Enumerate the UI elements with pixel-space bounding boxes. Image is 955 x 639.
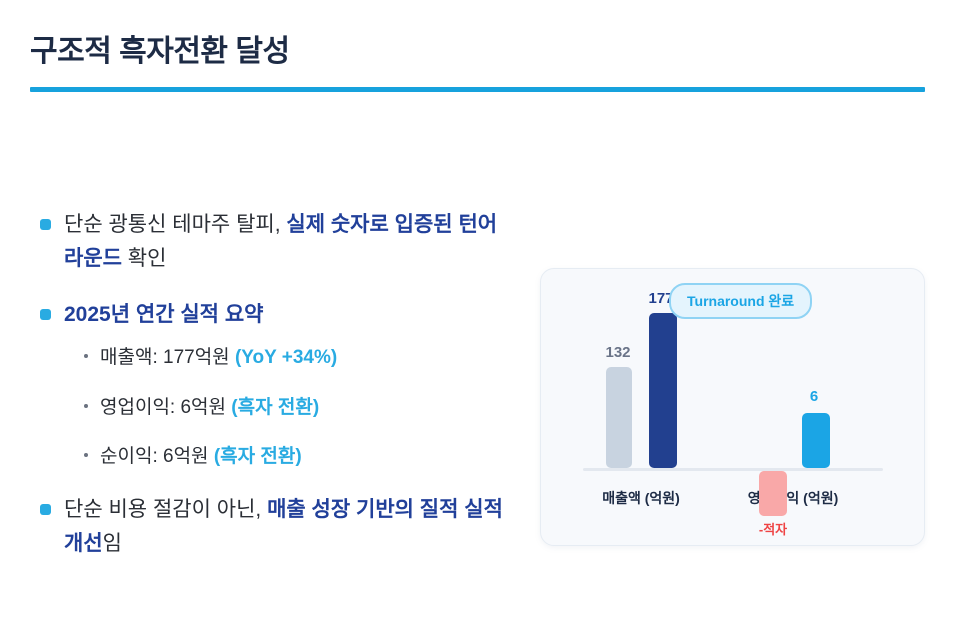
bar-profit-curr [802,413,830,468]
performance-chart-card: 132 177 -적자 6 매출액 (억원) 영업이익 (억원) Turnaro… [540,268,925,546]
bar-value-profit-prev: -적자 [744,519,802,538]
bar-revenue-prev [606,367,632,468]
axis-label-revenue: 매출액 (억원) [581,488,701,508]
chart-baseline [583,468,883,471]
sub-bullet-operating-profit: 영업이익: 6억원 (흑자 전환) [38,394,508,422]
sub-bullet-net-profit: 순이익: 6억원 (흑자 전환) [38,443,508,471]
bar-revenue-curr [649,313,677,468]
page-title: 구조적 흑자전환 달성 [30,26,290,70]
sub-bullet-revenue-highlight: (YoY +34%) [235,347,337,368]
square-bullet-icon [40,309,51,320]
square-bullet-icon [40,504,51,515]
square-bullet-icon [40,219,51,230]
sub-bullet-revenue: 매출액: 177억원 (YoY +34%) [38,344,508,372]
bullet-content-column: 단순 광통신 테마주 탈피, 실제 숫자로 입증된 턴어라운드 확인 2025년… [38,208,508,583]
dot-bullet-icon [84,404,88,408]
sub-bullet-operating-profit-label: 영업이익: 6억원 [100,397,226,418]
axis-label-operating-profit: 영업이익 (억원) [713,488,873,508]
sub-bullet-list: 매출액: 177억원 (YoY +34%) 영업이익: 6억원 (흑자 전환) … [38,344,508,471]
sub-bullet-operating-profit-highlight: (흑자 전환) [231,397,319,418]
bullet-3-text-lead: 단순 비용 절감이 아닌, [64,498,267,521]
bullet-item-3: 단순 비용 절감이 아닌, 매출 성장 기반의 질적 실적 개선임 [38,493,508,561]
turnaround-badge: Turnaround 완료 [669,283,812,319]
bullet-item-1: 단순 광통신 테마주 탈피, 실제 숫자로 입증된 턴어라운드 확인 [38,208,508,276]
bullet-item-2-heading: 2025년 연간 실적 요약 [38,298,508,332]
bar-profit-prev-loss [759,471,787,516]
dot-bullet-icon [84,354,88,358]
bullet-3-text-tail: 임 [103,532,122,555]
bullet-1-text-tail: 확인 [122,247,166,270]
dot-bullet-icon [84,453,88,457]
title-underline-rule [30,87,925,92]
bar-value-revenue-prev: 132 [593,344,643,361]
bar-chart-plot: 132 177 -적자 6 매출액 (억원) 영업이익 (억원) Turnaro… [541,269,924,545]
sub-bullet-revenue-label: 매출액: 177억원 [100,347,230,368]
bar-value-profit-curr: 6 [789,388,839,405]
sub-bullet-net-profit-label: 순이익: 6억원 [100,446,209,467]
bullet-1-text-lead: 단순 광통신 테마주 탈피, [64,213,286,236]
bullet-2-heading-text: 2025년 연간 실적 요약 [64,303,263,326]
sub-bullet-net-profit-highlight: (흑자 전환) [214,446,302,467]
